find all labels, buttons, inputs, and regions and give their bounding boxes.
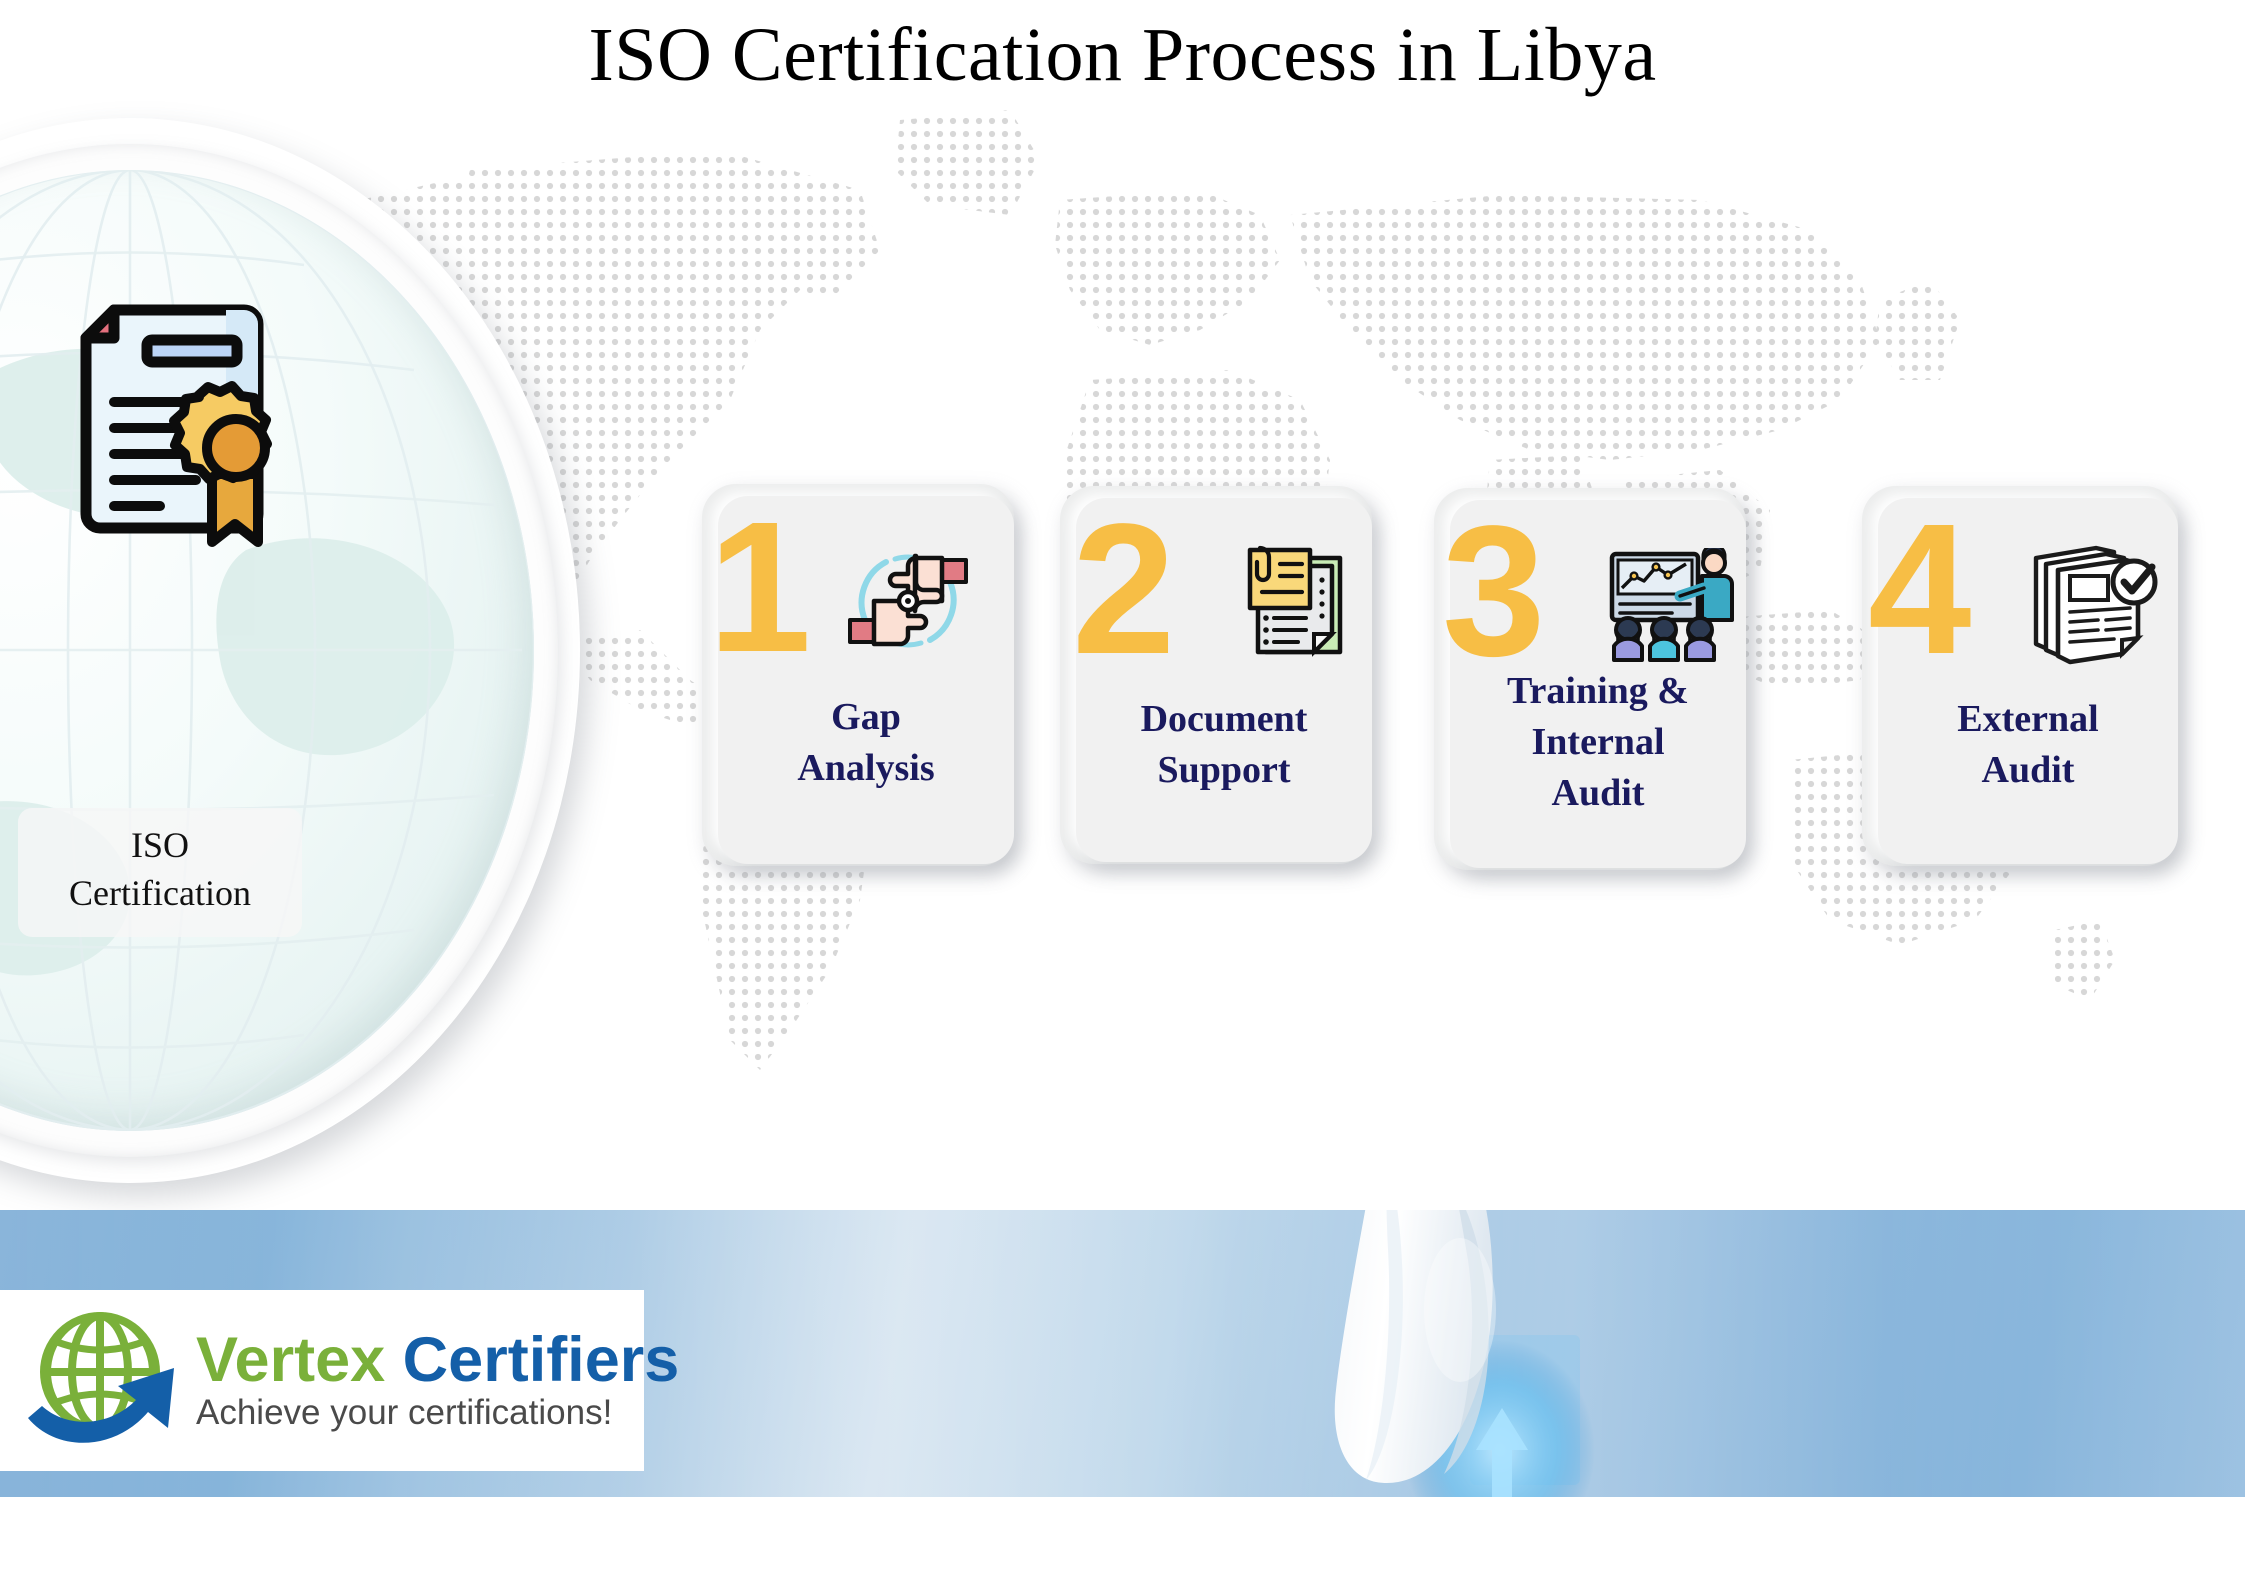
step-label-3: Training & Internal Audit (1450, 666, 1746, 819)
logo-text: Vertex Certifiers Achieve your certifica… (196, 1328, 689, 1433)
logo-brand-name: Vertex Certifiers (196, 1328, 679, 1392)
step-number-4: 4 (1868, 512, 1971, 668)
process-steps-container: 1 (0, 0, 2245, 1210)
footer-banner: Vertex Certifiers Achieve your certifica… (0, 1210, 2245, 1497)
audit-documents-check-icon (2030, 542, 2160, 671)
step-label-1: Gap Analysis (718, 692, 1014, 794)
step-card-external-audit[interactable]: 4 (1862, 486, 2178, 866)
logo-brand-part2: Certifiers (403, 1325, 680, 1395)
step-label-4: External Audit (1878, 694, 2178, 796)
company-logo[interactable]: Vertex Certifiers Achieve your certifica… (0, 1290, 644, 1471)
training-presentation-icon (1608, 548, 1734, 669)
documents-clipboard-icon (1240, 540, 1352, 667)
card-surface: 3 (1450, 500, 1746, 868)
hand-touching-interface-photo (1140, 1210, 1700, 1497)
step-number-1: 1 (708, 510, 811, 666)
step-card-gap-analysis[interactable]: 1 (702, 484, 1014, 866)
card-surface: 4 (1878, 498, 2178, 864)
page-title: ISO Certification Process in Libya (0, 12, 2245, 99)
step-card-training-internal-audit[interactable]: 3 (1434, 488, 1746, 870)
step-label-2: Document Support (1076, 694, 1372, 796)
teamwork-hands-icon (838, 536, 978, 671)
step-card-document-support[interactable]: 2 (1060, 486, 1372, 864)
vertex-globe-arrow-logo-icon (22, 1306, 190, 1456)
step-number-2: 2 (1072, 512, 1175, 668)
logo-tagline: Achieve your certifications! (196, 1394, 679, 1433)
card-surface: 2 (1076, 498, 1372, 862)
logo-brand-part1: Vertex (196, 1325, 385, 1395)
step-number-3: 3 (1442, 514, 1545, 670)
card-surface: 1 (718, 496, 1014, 864)
